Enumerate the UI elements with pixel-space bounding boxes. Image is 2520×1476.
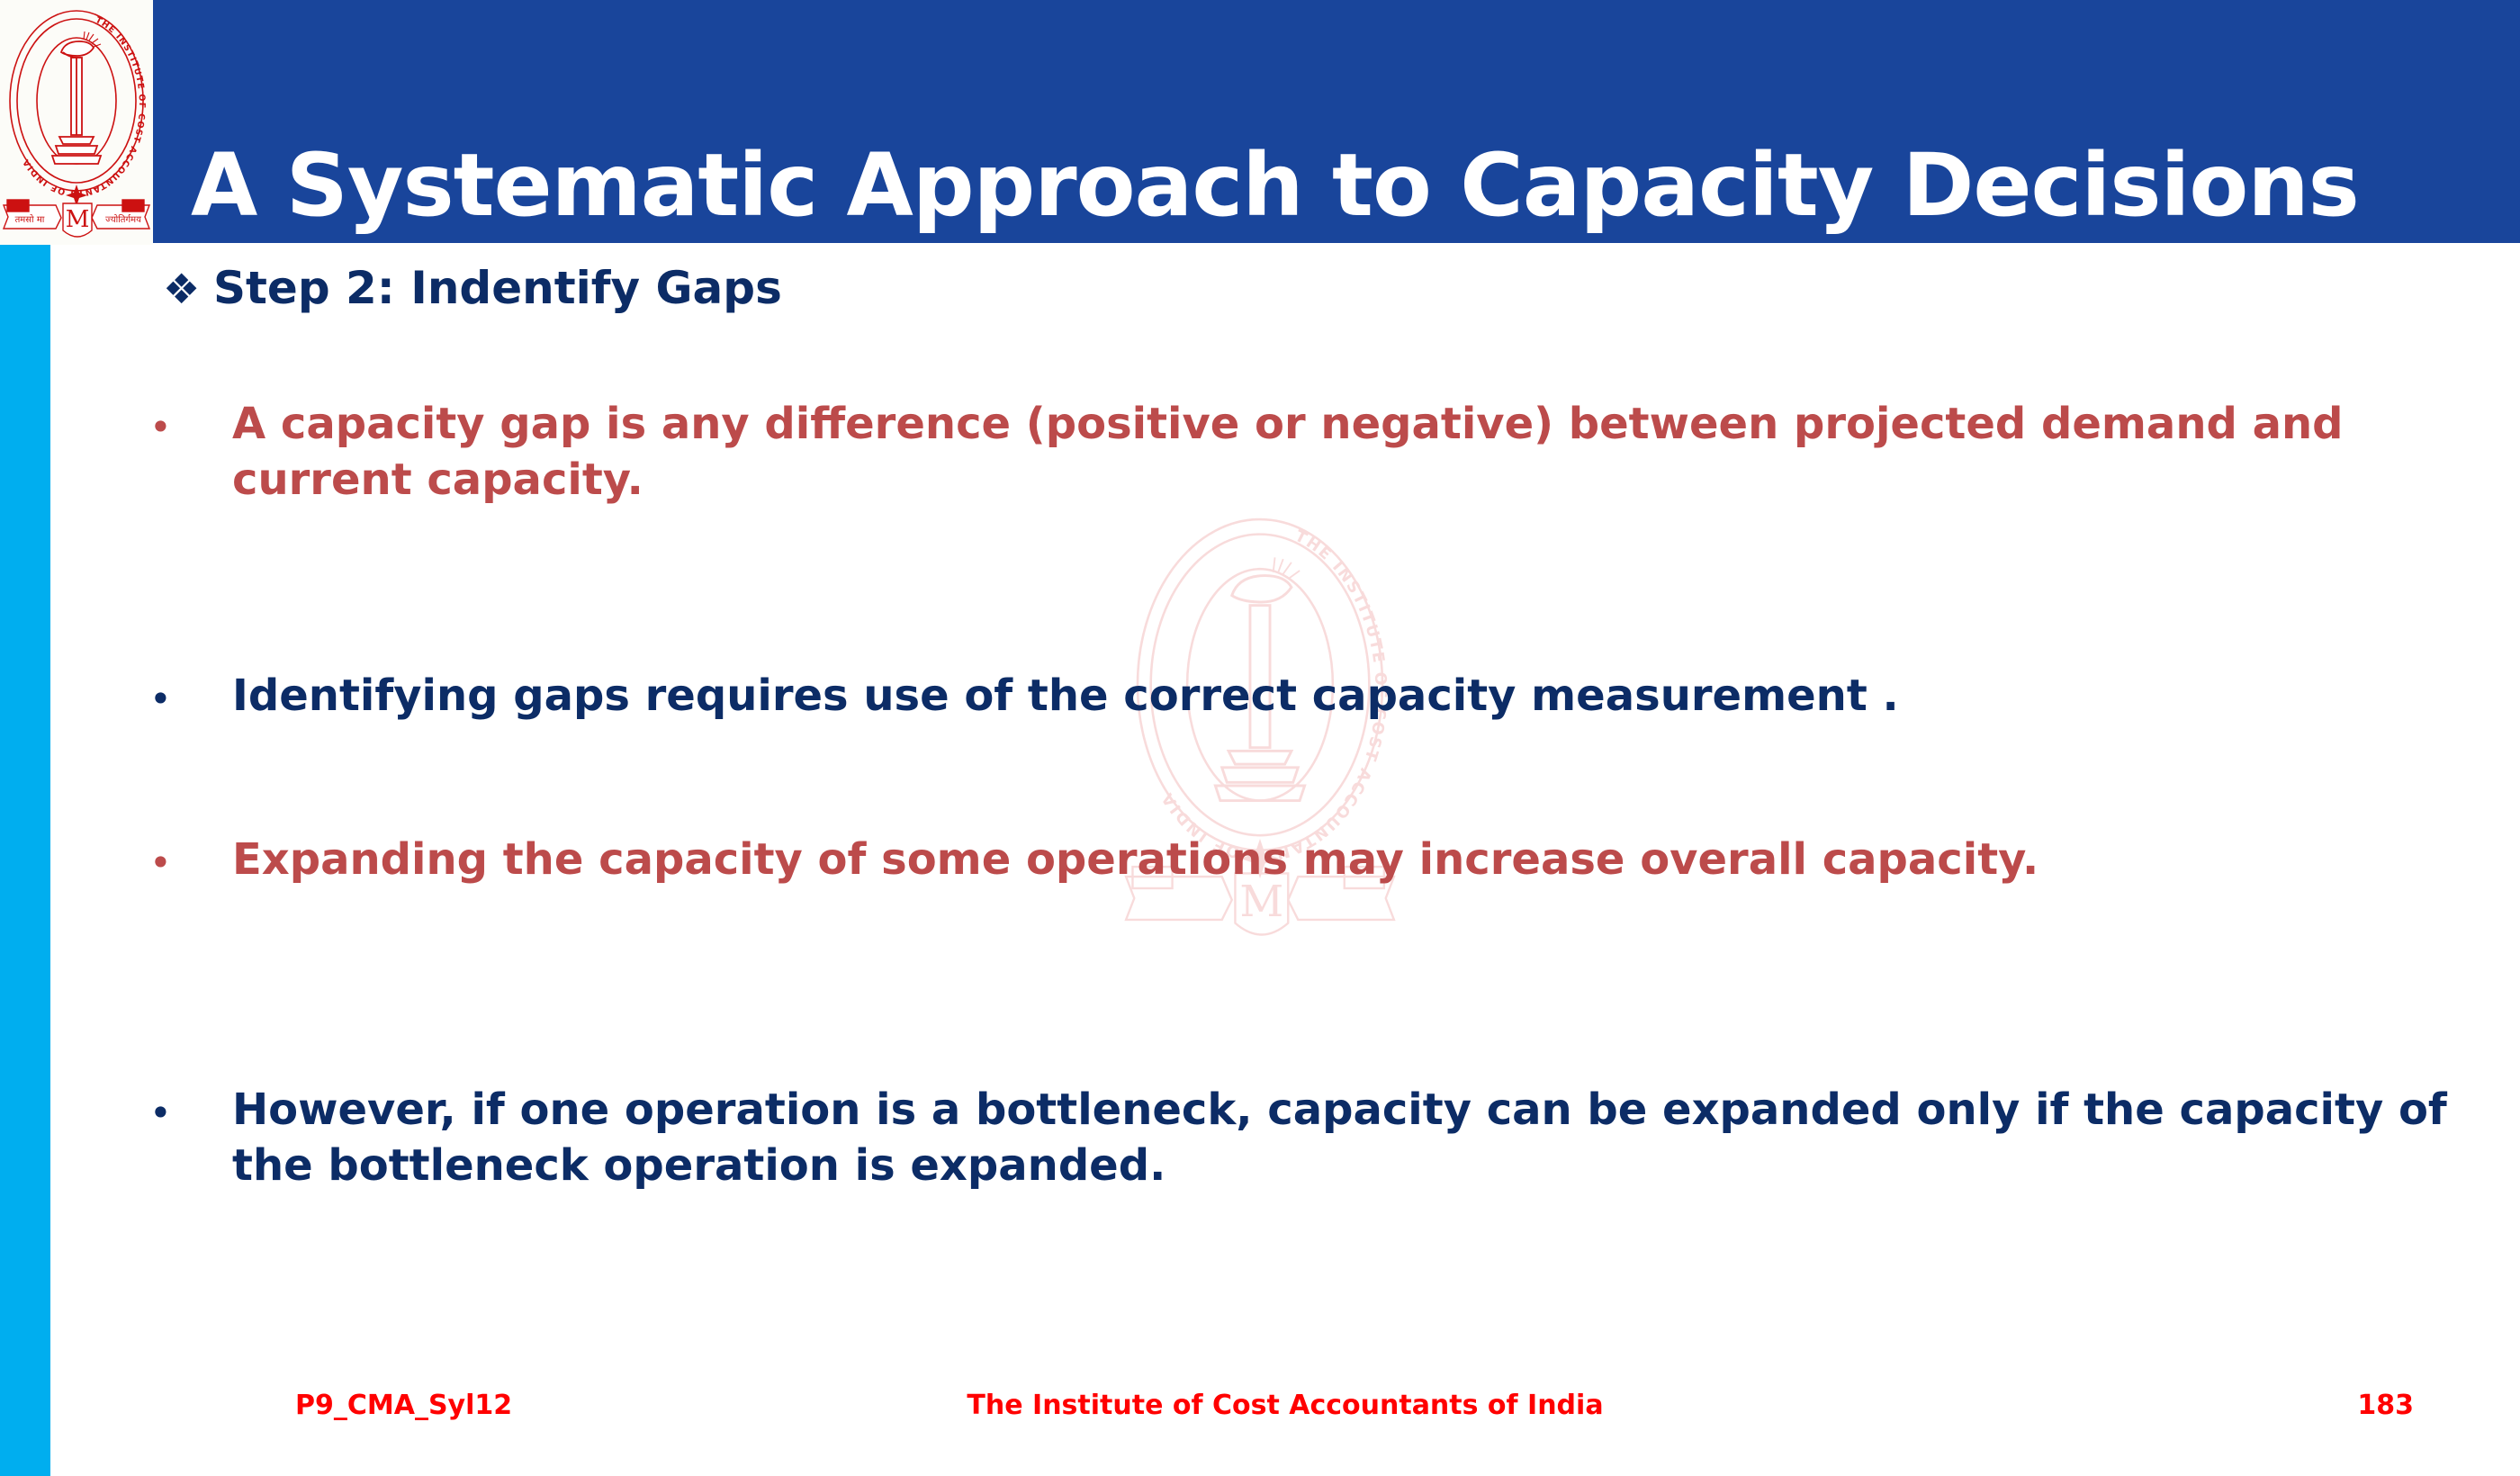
list-item-text: Identifying gaps requires use of the cor… bbox=[232, 668, 1899, 724]
svg-text:M: M bbox=[66, 206, 90, 233]
icai-logo: THE INSTITUTE OF COST ACCOUNTANTS OF IND… bbox=[0, 0, 153, 245]
list-item: • However, if one operation is a bottlen… bbox=[149, 1082, 2484, 1194]
bullet-dot-icon: • bbox=[149, 668, 232, 718]
bullet-dot-icon: • bbox=[149, 832, 232, 882]
list-item-text: Expanding the capacity of some operation… bbox=[232, 832, 2038, 887]
list-item: • Identifying gaps requires use of the c… bbox=[149, 668, 2484, 724]
list-item-text: However, if one operation is a bottlenec… bbox=[232, 1082, 2484, 1194]
header-band: A Systematic Approach to Capacity Decisi… bbox=[153, 0, 2520, 243]
svg-text:तमसो मा: तमसो मा bbox=[15, 214, 45, 225]
page-title: A Systematic Approach to Capacity Decisi… bbox=[191, 142, 2507, 230]
step-heading-label: Step 2: Indentify Gaps bbox=[213, 263, 782, 315]
list-item-text: A capacity gap is any difference (positi… bbox=[232, 396, 2484, 508]
footer-page-number: 183 bbox=[2357, 1390, 2414, 1421]
diamond-bullet-icon: ❖ bbox=[163, 263, 213, 310]
svg-text:ज्योतिर्गमय: ज्योतिर्गमय bbox=[105, 214, 141, 225]
bullet-dot-icon: • bbox=[149, 396, 232, 446]
left-accent-bar bbox=[0, 245, 50, 1476]
bullet-dot-icon: • bbox=[149, 1082, 232, 1132]
list-item: • Expanding the capacity of some operati… bbox=[149, 832, 2484, 887]
slide-footer: P9_CMA_Syl12 The Institute of Cost Accou… bbox=[50, 1390, 2520, 1440]
list-item: • A capacity gap is any difference (posi… bbox=[149, 396, 2484, 508]
step-heading: ❖ Step 2: Indentify Gaps bbox=[163, 263, 782, 315]
slide-root: A Systematic Approach to Capacity Decisi… bbox=[0, 0, 2520, 1476]
footer-organization: The Institute of Cost Accountants of Ind… bbox=[50, 1390, 2520, 1421]
slide-body: ❖ Step 2: Indentify Gaps • A capacity ga… bbox=[50, 245, 2520, 1323]
